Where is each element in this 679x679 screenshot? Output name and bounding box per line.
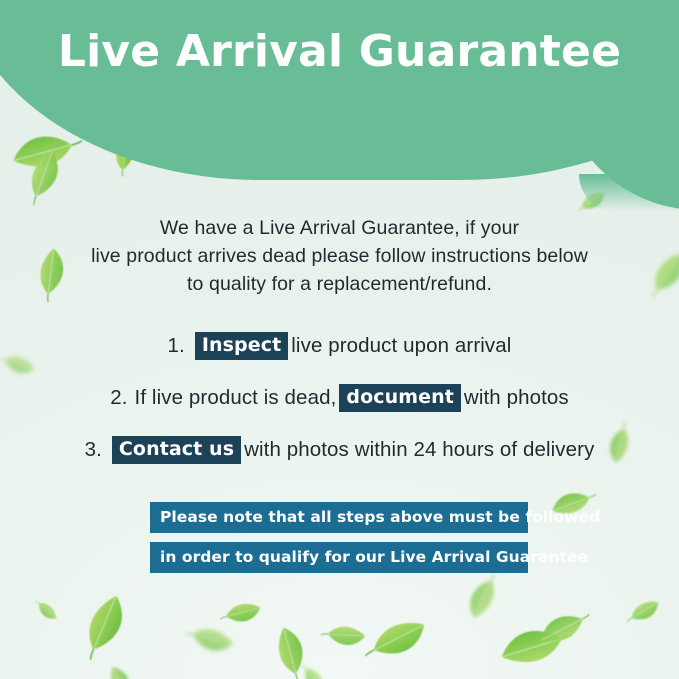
step-2-text-before: If live product is dead, bbox=[135, 386, 337, 410]
step-2-text-after: with photos bbox=[464, 386, 569, 410]
instruction-step-1: 1. Inspect live product upon arrival bbox=[0, 320, 679, 372]
instruction-step-2: 2. If live product is dead, document wit… bbox=[0, 372, 679, 424]
step-1-number: 1. bbox=[168, 334, 185, 358]
step-3-text-after: with photos within 24 hours of delivery bbox=[244, 438, 594, 462]
intro-line-1: We have a Live Arrival Guarantee, if you… bbox=[60, 214, 619, 242]
intro-paragraph: We have a Live Arrival Guarantee, if you… bbox=[60, 214, 619, 298]
step-1-highlight-inspect: Inspect bbox=[195, 332, 288, 359]
step-3-highlight-contact-us: Contact us bbox=[112, 436, 241, 463]
step-2-number: 2. bbox=[110, 386, 127, 410]
live-arrival-guarantee-poster: Live Arrival Guarantee We have a Live Ar… bbox=[0, 0, 679, 679]
callout-note: Please note that all steps above must be… bbox=[150, 502, 528, 573]
step-3-number: 3. bbox=[85, 438, 102, 462]
callout-bar-line-1: Please note that all steps above must be… bbox=[150, 502, 528, 533]
intro-line-2: live product arrives dead please follow … bbox=[60, 242, 619, 270]
instruction-step-3: 3. Contact us with photos within 24 hour… bbox=[0, 424, 679, 476]
instruction-steps-list: 1. Inspect live product upon arrival 2. … bbox=[0, 320, 679, 476]
step-1-text-after: live product upon arrival bbox=[291, 334, 511, 358]
callout-bar-line-2: in order to qualify for our Live Arrival… bbox=[150, 542, 528, 573]
intro-line-3: to quality for a replacement/refund. bbox=[60, 270, 619, 298]
step-2-highlight-document: document bbox=[339, 384, 461, 411]
page-title: Live Arrival Guarantee bbox=[0, 26, 679, 78]
